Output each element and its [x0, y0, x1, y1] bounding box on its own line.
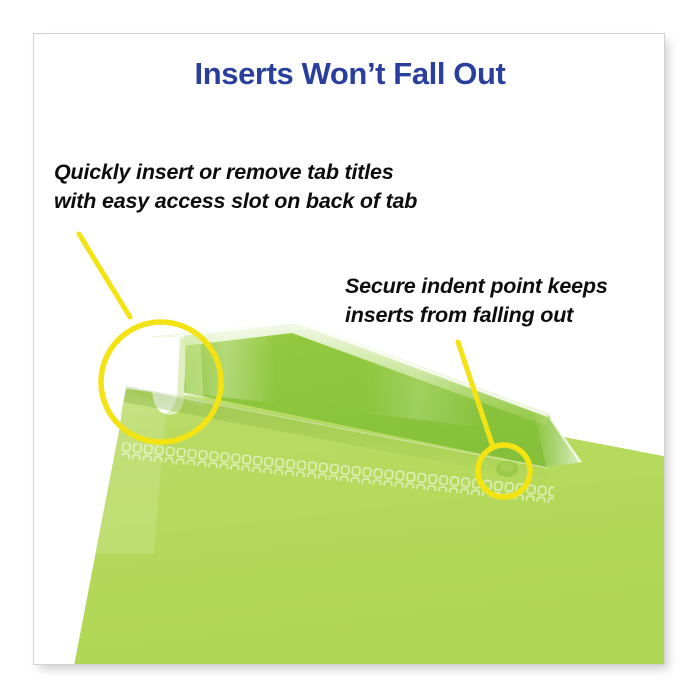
callout-caption-line-1: Quickly insert or remove tab titles — [54, 158, 417, 187]
product-illustration — [34, 34, 665, 665]
callout-caption-indent-point: Secure indent point keeps inserts from f… — [345, 272, 608, 331]
callout-caption-line-2: with easy access slot on back of tab — [54, 187, 417, 216]
indent-point — [496, 461, 518, 477]
callout-caption-line-1: Secure indent point keeps — [345, 272, 608, 301]
product-photo — [34, 34, 665, 665]
callout-caption-tab-slot: Quickly insert or remove tab titles with… — [54, 158, 417, 217]
page-title: Inserts Won’t Fall Out — [34, 56, 665, 92]
leader-line-icon — [79, 234, 130, 317]
photo-frame: Inserts Won’t Fall Out Quickly insert or… — [33, 33, 665, 665]
callout-caption-line-2: inserts from falling out — [345, 301, 608, 330]
image-canvas: Inserts Won’t Fall Out Quickly insert or… — [0, 0, 700, 700]
